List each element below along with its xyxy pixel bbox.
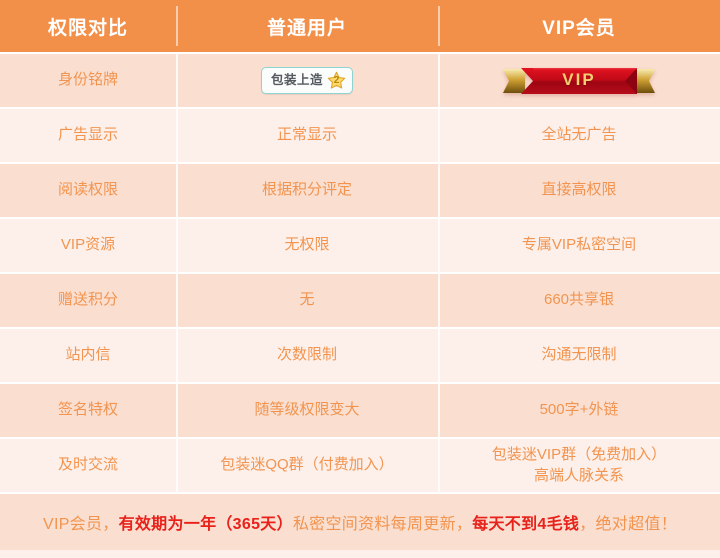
header-label-normal-user: 普通用户 xyxy=(267,13,347,40)
table-row: 及时交流 包装迷QQ群（付费加入） 包装迷VIP群（免费加入） 高端人脉关系 xyxy=(0,437,720,492)
footer-segment: 私密空间资料每周更新， xyxy=(293,516,472,533)
table-row: 站内信 次数限制 沟通无限制 xyxy=(0,327,720,382)
footer-segment: ，绝对超值！ xyxy=(579,516,677,533)
table-row: 广告显示 正常显示 全站无广告 xyxy=(0,107,720,162)
vip-value-line-1: 包装迷VIP群（免费加入） xyxy=(492,446,666,463)
row-feature-label: 赠送积分 xyxy=(0,274,176,327)
footer-segment-highlight: 有效期为一年（365天） xyxy=(119,516,293,533)
row-normal-value: 根据积分评定 xyxy=(176,164,438,217)
row-feature-label: 及时交流 xyxy=(0,439,176,492)
table-row: 签名特权 随等级权限变大 500字+外链 xyxy=(0,382,720,437)
row-vip-value: 全站无广告 xyxy=(438,109,720,162)
footer-segment: VIP会员， xyxy=(43,516,119,533)
row-feature-label: 广告显示 xyxy=(0,109,176,162)
row-vip-value: 专属VIP私密空间 xyxy=(438,219,720,272)
row-feature-label: 签名特权 xyxy=(0,384,176,437)
row-normal-value: 无权限 xyxy=(176,219,438,272)
row-vip-value: 500字+外链 xyxy=(438,384,720,437)
header-label-vip-member: VIP会员 xyxy=(542,13,616,40)
row-normal-value: 无 xyxy=(176,274,438,327)
row-normal-value: 包装上造 2 xyxy=(176,54,438,107)
vip-value-multiline: 包装迷VIP群（免费加入） 高端人脉关系 xyxy=(492,445,666,486)
row-feature-label: 身份铭牌 xyxy=(0,54,176,107)
header-cell-normal-user: 普通用户 xyxy=(176,0,438,52)
user-level-badge: 包装上造 2 xyxy=(261,67,353,94)
badge-label: 包装上造 xyxy=(271,72,323,89)
row-normal-value: 次数限制 xyxy=(176,329,438,382)
footer-note: VIP会员，有效期为一年（365天）私密空间资料每周更新，每天不到4毛钱，绝对超… xyxy=(43,510,677,534)
star-level-number: 2 xyxy=(327,71,346,90)
vip-value-line-2: 高端人脉关系 xyxy=(492,466,666,486)
table-body: 身份铭牌 包装上造 2 xyxy=(0,52,720,492)
vip-ribbon-label: VIP xyxy=(562,69,595,92)
vip-ribbon-icon: VIP xyxy=(503,66,655,96)
table-footer: VIP会员，有效期为一年（365天）私密空间资料每周更新，每天不到4毛钱，绝对超… xyxy=(0,492,720,550)
row-vip-value: 直接高权限 xyxy=(438,164,720,217)
footer-bottom-strip xyxy=(0,550,720,558)
row-feature-label: 阅读权限 xyxy=(0,164,176,217)
row-normal-value: 正常显示 xyxy=(176,109,438,162)
table-row: 阅读权限 根据积分评定 直接高权限 xyxy=(0,162,720,217)
star-icon: 2 xyxy=(327,71,346,90)
vip-comparison-table: 权限对比 普通用户 VIP会员 身份铭牌 包装上造 2 xyxy=(0,0,720,558)
row-vip-value: VIP xyxy=(438,54,720,107)
table-row: 赠送积分 无 660共享银 xyxy=(0,272,720,327)
row-vip-value: 沟通无限制 xyxy=(438,329,720,382)
header-label-feature: 权限对比 xyxy=(48,13,128,40)
table-row: 身份铭牌 包装上造 2 xyxy=(0,52,720,107)
row-normal-value: 包装迷QQ群（付费加入） xyxy=(176,439,438,492)
row-vip-value: 包装迷VIP群（免费加入） 高端人脉关系 xyxy=(438,439,720,492)
footer-segment-highlight: 每天不到4毛钱 xyxy=(472,516,579,533)
table-header-row: 权限对比 普通用户 VIP会员 xyxy=(0,0,720,52)
row-normal-value: 随等级权限变大 xyxy=(176,384,438,437)
header-cell-feature: 权限对比 xyxy=(0,0,176,52)
row-vip-value: 660共享银 xyxy=(438,274,720,327)
table-row: VIP资源 无权限 专属VIP私密空间 xyxy=(0,217,720,272)
header-cell-vip-member: VIP会员 xyxy=(438,0,720,52)
row-feature-label: 站内信 xyxy=(0,329,176,382)
row-feature-label: VIP资源 xyxy=(0,219,176,272)
